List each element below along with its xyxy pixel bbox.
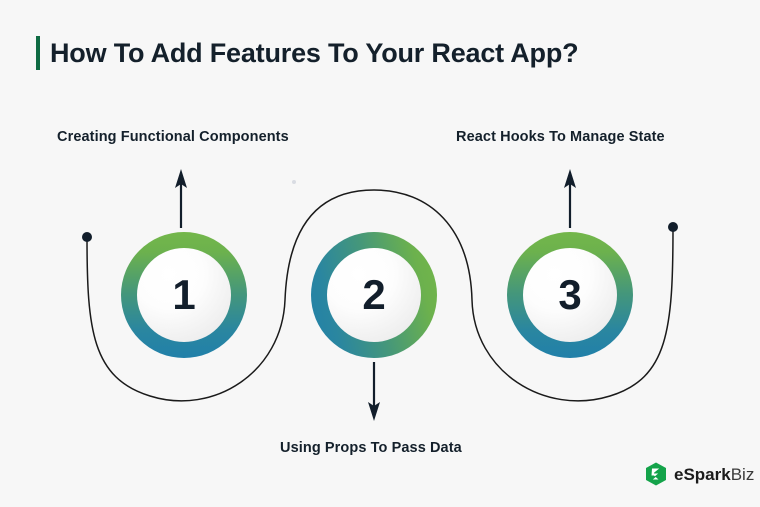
arrow-down-step-2 [368,362,380,421]
step-circle-1[interactable]: 1 [121,232,247,358]
background-speck [292,180,296,184]
arrow-up-step-3 [564,169,576,228]
step-disc-2: 2 [327,248,421,342]
path-end-dot [668,222,678,232]
step-number-2: 2 [362,274,385,316]
step-label-2: Using Props To Pass Data [280,440,462,456]
infographic-canvas: How To Add Features To Your React App? 1 [0,0,760,507]
step-label-1: Creating Functional Components [57,129,289,145]
brand-name: eSparkBiz [674,466,754,483]
brand-name-bold: eSpark [674,465,731,484]
step-disc-1: 1 [137,248,231,342]
step-circle-3[interactable]: 3 [507,232,633,358]
step-disc-3: 3 [523,248,617,342]
step-circle-2[interactable]: 2 [311,232,437,358]
step-number-3: 3 [558,274,581,316]
brand-logo[interactable]: eSparkBiz [645,462,754,486]
arrow-up-step-1 [175,169,187,228]
espark-hexagon-icon [645,462,667,486]
step-label-3: React Hooks To Manage State [456,129,665,145]
path-start-dot [82,232,92,242]
step-number-1: 1 [172,274,195,316]
brand-name-light: Biz [731,465,755,484]
